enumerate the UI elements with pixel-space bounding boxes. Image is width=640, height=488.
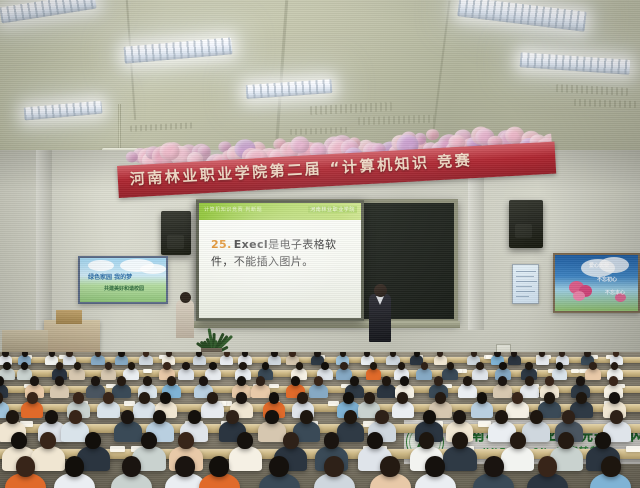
audience-member-torso — [220, 355, 233, 365]
audience-member-head — [118, 352, 124, 357]
wall-poster-left: 绿色家园 我的梦 共建美好和谐校园 — [78, 256, 168, 304]
audience-member-torso — [471, 401, 494, 418]
audience-member-torso — [101, 368, 117, 380]
audience-member-head — [85, 432, 101, 449]
audience-member-head — [283, 432, 299, 449]
audience-member-torso — [139, 355, 152, 365]
audience-member-torso — [229, 446, 262, 471]
audience-member-head — [321, 362, 329, 370]
audience-member-head — [453, 410, 466, 424]
audience-member-torso — [193, 355, 206, 365]
audience-member-head — [476, 362, 484, 370]
audience-member-head — [199, 376, 208, 386]
wall-speaker-right — [509, 200, 543, 248]
audience-member-head — [400, 376, 409, 386]
audience-member-head — [471, 352, 477, 357]
audience-member-head — [576, 392, 587, 404]
audience-member-head — [27, 392, 38, 404]
audience-member-torso — [258, 421, 286, 442]
audience-member-head — [343, 392, 354, 404]
audience-member-head — [296, 362, 304, 370]
audience-member-head — [55, 376, 64, 386]
audience-member-torso — [585, 368, 601, 380]
audience-member-torso — [268, 355, 281, 365]
audience-member-head — [166, 352, 172, 357]
wall-notice-frame — [512, 264, 539, 304]
audience-member-head — [188, 410, 201, 424]
audience-member-head — [117, 376, 126, 386]
question-number: 25. — [211, 238, 232, 251]
audience-member-head — [324, 432, 340, 449]
audience-member-head — [16, 456, 36, 477]
audience-member-head — [49, 352, 55, 357]
audience-member-torso — [434, 355, 447, 365]
audience-member-torso — [69, 368, 85, 380]
audience-member-head — [291, 376, 300, 386]
audience-member-head — [463, 376, 472, 386]
slide-header-right-text: 河南林业职业学院 — [308, 206, 357, 213]
audience-member-head — [498, 376, 507, 386]
audience-member-torso — [442, 368, 458, 380]
audience-member-torso — [337, 421, 365, 442]
audience-member-head — [601, 456, 621, 477]
audience-member-torso — [201, 401, 224, 418]
audience-member-head — [364, 392, 375, 404]
audience-member-head — [382, 376, 391, 386]
audience-member-head — [434, 376, 443, 386]
audience-member-head — [2, 352, 8, 357]
audience-member-head — [421, 362, 429, 370]
exam-paper — [269, 384, 279, 388]
audience-member-head — [178, 432, 194, 449]
audience-member-head — [11, 432, 27, 449]
audience-member-head — [375, 410, 388, 424]
audience-member-head — [3, 362, 11, 370]
audience-member-head — [143, 376, 152, 386]
audience-member-head — [367, 432, 383, 449]
audience-member-torso — [520, 384, 539, 398]
assistant-body — [176, 300, 194, 338]
presenter-head — [374, 284, 387, 297]
audience-member-torso — [377, 384, 396, 398]
question-text-line1: 是电子表格软 — [268, 238, 336, 251]
audience-member-head — [269, 456, 289, 477]
audience-member-head — [398, 362, 406, 370]
cardboard-box — [56, 310, 82, 324]
audience-member-head — [207, 392, 218, 404]
audience-member-torso — [458, 384, 477, 398]
audience-member-torso — [251, 384, 270, 398]
audience-member-head — [499, 362, 507, 370]
audience-member-head — [271, 352, 277, 357]
audience-member-head — [66, 352, 72, 357]
audience-member-head — [538, 456, 558, 477]
audience-member-head — [167, 376, 176, 386]
audience-member-head — [103, 392, 114, 404]
audience-member-torso — [508, 355, 521, 365]
audience-member-torso — [31, 446, 64, 471]
audience-member-head — [477, 392, 488, 404]
audience-member-head — [160, 392, 171, 404]
audience-member-head — [494, 352, 500, 357]
audience-member-head — [30, 376, 39, 386]
exam-paper — [571, 369, 580, 373]
audience-member-head — [340, 352, 346, 357]
audience-member-head — [452, 432, 468, 449]
audience-member-torso — [443, 446, 476, 471]
audience-member-torso — [309, 384, 328, 398]
audience-member-head — [545, 376, 554, 386]
audience-member-torso — [552, 368, 568, 380]
audience-member-torso — [97, 401, 120, 418]
exam-paper — [626, 446, 640, 452]
audience-member-head — [91, 376, 100, 386]
audience-member-head — [265, 410, 278, 424]
audience-member-head — [224, 352, 230, 357]
audience-member-head — [22, 352, 28, 357]
audience-member-head — [262, 362, 270, 370]
audience-member-torso — [472, 368, 488, 380]
poster-left-line1: 绿色家园 我的梦 — [88, 272, 132, 281]
projection-screen: 计算机知识竞赛·判断题 河南林业职业学院 25.Execl是电子表格软 件，不能… — [196, 200, 364, 321]
audience-member-head — [209, 456, 229, 477]
audience-member-head — [69, 410, 82, 424]
wall-poster-right: 爱心天使 不忘初心 不忘本心 — [553, 253, 640, 313]
audience-member-head — [237, 432, 253, 449]
audience-member-head — [544, 392, 555, 404]
audience-member-head — [423, 410, 436, 424]
audience-member-head — [576, 376, 585, 386]
audience-member-head — [609, 376, 618, 386]
audience-member-head — [74, 362, 82, 370]
audience-member-head — [525, 362, 533, 370]
audience-member-head — [397, 392, 408, 404]
audience-member-head — [484, 456, 504, 477]
chalk-rail — [194, 321, 460, 328]
audience-member-head — [350, 376, 359, 386]
audience-member-head — [143, 352, 149, 357]
audience-member-head — [419, 432, 435, 449]
audience-member-torso — [86, 384, 105, 398]
audience-member-head — [530, 410, 543, 424]
audience-member-head — [226, 410, 239, 424]
audience-member-head — [6, 410, 19, 424]
front-cabinet — [44, 320, 100, 354]
audience-member-torso — [21, 401, 44, 418]
question-text-line2: 件，不能插入图片。 — [211, 255, 314, 268]
slide-header-band: 计算机知识竞赛·判断题 河南林业职业学院 — [199, 203, 361, 220]
audience-member-head — [558, 432, 574, 449]
audience-member-head — [122, 456, 142, 477]
audience-member-head — [425, 456, 445, 477]
audience-member-torso — [178, 368, 194, 380]
audience-member-torso — [501, 446, 534, 471]
audience-member-torso — [522, 421, 550, 442]
audience-member-torso — [392, 401, 415, 418]
poster-left-line2: 共建美好和谐校园 — [104, 285, 144, 292]
audience-member-head — [370, 362, 378, 370]
audience-member-head — [340, 362, 348, 370]
audience-member-head — [314, 352, 320, 357]
audience-member-head — [589, 362, 597, 370]
audience-member-head — [510, 432, 526, 449]
exam-paper — [110, 446, 125, 452]
audience-member-torso — [366, 368, 382, 380]
audience-member-head — [609, 392, 620, 404]
audience-member-head — [380, 456, 400, 477]
audience-member-head — [73, 392, 84, 404]
poster-right-line2: 不忘初心 — [597, 276, 617, 283]
audience-member-torso — [506, 401, 529, 418]
audience-member-head — [141, 432, 157, 449]
audience-member-head — [139, 392, 150, 404]
audience-member-head — [105, 362, 113, 370]
audience-member-head — [610, 410, 623, 424]
audience-member-head — [269, 392, 280, 404]
audience-member-torso — [493, 384, 512, 398]
audience-member-head — [314, 376, 323, 386]
audience-member-torso — [114, 421, 142, 442]
poster-right-line3: 不忘本心 — [605, 289, 625, 296]
audience-member-head — [414, 352, 420, 357]
audience-member-head — [525, 376, 534, 386]
audience-member-head — [56, 362, 64, 370]
audience-member-torso — [112, 384, 131, 398]
audience-member-head — [324, 456, 344, 477]
audience-member-head — [236, 392, 247, 404]
audience-member-head — [242, 352, 248, 357]
audience-member-head — [300, 410, 313, 424]
exam-paper — [144, 369, 153, 373]
audience-member-head — [297, 392, 308, 404]
audience-member-torso — [91, 355, 104, 365]
audience-member-torso — [416, 368, 432, 380]
audience-member-head — [256, 376, 265, 386]
audience-member-head — [556, 362, 564, 370]
audience-member-head — [495, 410, 508, 424]
audience-member-torso — [536, 355, 549, 365]
slide-header-left-text: 计算机知识竞赛·判断题 — [204, 206, 262, 213]
audience-member-head — [584, 352, 590, 357]
assistant-head — [180, 292, 191, 303]
audience-member-head — [237, 376, 246, 386]
question-keyword: Execl — [234, 238, 268, 251]
audience-member-head — [344, 410, 357, 424]
audience-member-head — [175, 456, 195, 477]
audience-member-head — [128, 362, 136, 370]
audience-member-head — [163, 362, 171, 370]
poster-right-line1: 爱心天使 — [589, 262, 609, 269]
audience-member-head — [447, 362, 455, 370]
lecture-hall-photo: 河南林业职业学院第二届 “计算机知识 竞赛 计算机知识竞赛·判断题 河南林业职业… — [0, 0, 640, 488]
slide-question: 25.Execl是电子表格软 件，不能插入图片。 — [211, 236, 351, 270]
audience-member-head — [0, 376, 4, 386]
wall-speaker-left — [161, 211, 191, 255]
audience-member-head — [209, 362, 217, 370]
audience-member-head — [182, 362, 190, 370]
audience-member-head — [435, 392, 446, 404]
audience-member-head — [21, 362, 29, 370]
audience-member-head — [289, 352, 295, 357]
audience-member-head — [512, 392, 523, 404]
audience-member-head — [95, 352, 101, 357]
audience-member-head — [595, 432, 611, 449]
audience-member-head — [65, 456, 85, 477]
audience-member-head — [239, 362, 247, 370]
audience-member-head — [390, 352, 396, 357]
audience-member-torso — [115, 355, 128, 365]
audience-member-torso — [50, 384, 69, 398]
audience-member-head — [45, 410, 58, 424]
audience-member-head — [40, 432, 56, 449]
